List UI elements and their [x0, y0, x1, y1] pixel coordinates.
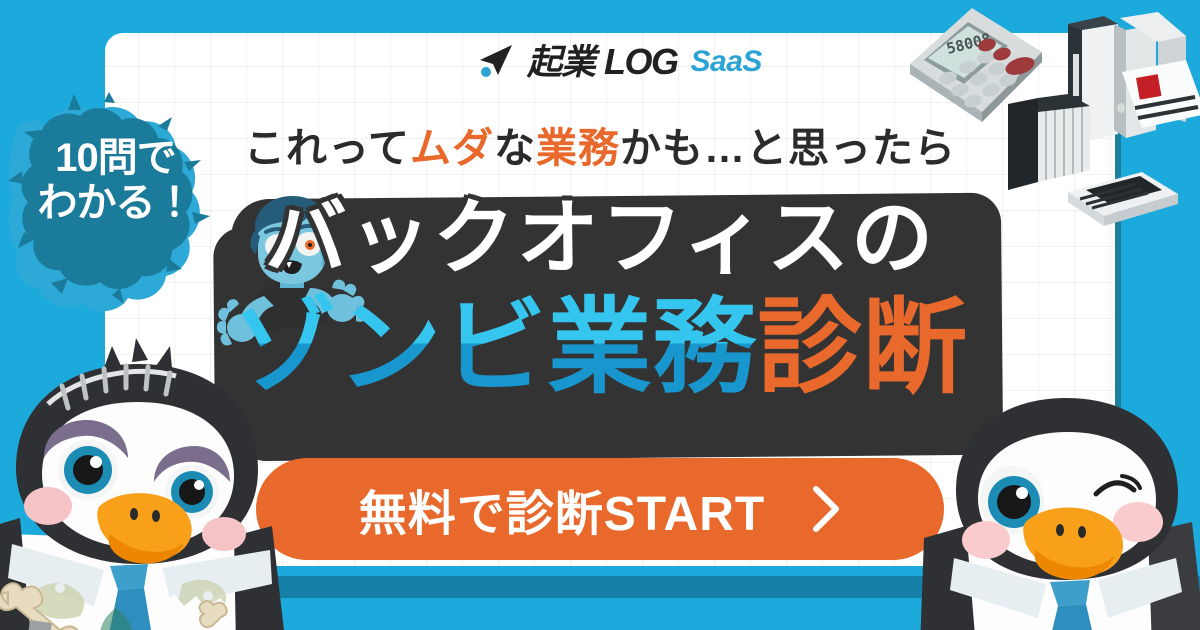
zombie-penguin-illustration: [0, 358, 286, 630]
tagline-part2: な: [494, 125, 536, 171]
paper-plane-cursor-icon: [478, 44, 518, 80]
banner-root: 58008: [0, 0, 1200, 630]
cta-label: 無料で診断START: [359, 474, 765, 544]
tagline-part3: かも…と思ったら: [620, 125, 956, 171]
badge-line1: 10問で: [8, 136, 223, 181]
headline-zombie-word: ゾンビ業務: [232, 290, 757, 406]
logo-en-text: LOG: [604, 44, 678, 80]
headline-diagnosis-word: 診断: [758, 290, 968, 406]
healthy-winking-penguin-illustration: [920, 398, 1200, 630]
logo[interactable]: 起業 LOG SaaS: [478, 44, 762, 80]
headline-line1: バックオフィスの: [0, 196, 1200, 282]
tagline-highlight-gyomu: 業務: [536, 125, 620, 171]
tagline-part1: これって: [244, 125, 410, 171]
tagline-highlight-muda: ムダ: [410, 125, 494, 171]
logo-product-text: SaaS: [691, 47, 762, 77]
start-diagnosis-button[interactable]: 無料で診断START: [256, 458, 944, 560]
chevron-right-icon: [811, 486, 841, 532]
logo-jp-text: 起業: [527, 45, 595, 80]
